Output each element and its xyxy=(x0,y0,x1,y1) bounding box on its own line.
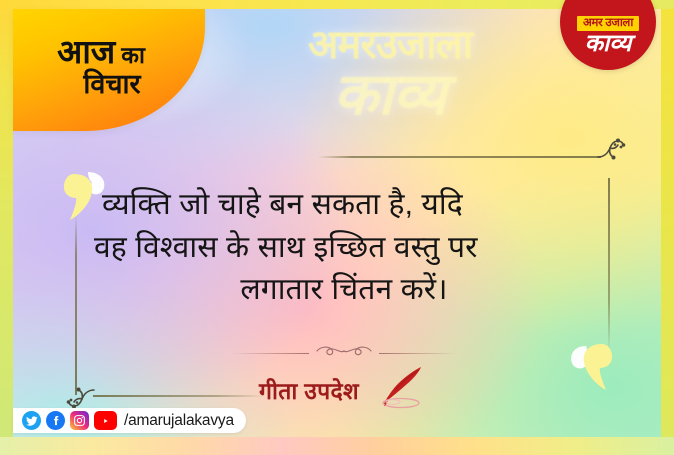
thought-of-the-day-badge: आजका विचार xyxy=(13,9,205,131)
ornament-divider-icon xyxy=(86,346,602,360)
social-handle-bar[interactable]: /amarujalakavya xyxy=(13,408,246,433)
quote-line-2: वह विश्वास के साथ इच्छित वस्तु पर xyxy=(86,227,602,270)
social-handle-text: /amarujalakavya xyxy=(124,412,234,430)
frame-left-line xyxy=(75,215,77,395)
quote-text: व्यक्ति जो चाहे बन सकता है, यदि वह विश्व… xyxy=(86,184,602,312)
logo-section-text: काव्य xyxy=(585,32,632,56)
feather-quill-icon xyxy=(377,364,429,415)
badge-word-aaj: आज xyxy=(57,33,115,70)
instagram-icon[interactable] xyxy=(70,411,89,430)
divider-ornament xyxy=(313,344,375,362)
attribution-block: गीता उपदेश xyxy=(86,346,602,415)
attribution-name: गीता उपदेश xyxy=(259,374,359,406)
border-right xyxy=(661,0,674,455)
quote-line-1: व्यक्ति जो चाहे बन सकता है, यदि xyxy=(86,184,602,227)
youtube-icon[interactable] xyxy=(94,411,117,430)
poster-canvas: अमरउजाला काव्य आजका विचार अमर उजाला काव्… xyxy=(0,0,674,455)
logo-brand-text: अमर उजाला xyxy=(577,16,639,31)
badge-word-ka: का xyxy=(121,42,145,68)
border-left xyxy=(0,0,13,455)
frame-top-line xyxy=(318,156,601,158)
frame-right-line xyxy=(608,178,610,353)
divider-line-right xyxy=(379,353,457,354)
divider-line-left xyxy=(231,353,309,354)
twitter-icon[interactable] xyxy=(22,411,41,430)
badge-line-2: विचार xyxy=(83,71,140,98)
quote-line-3: लगातार चिंतन करें। xyxy=(86,269,602,312)
facebook-icon[interactable] xyxy=(46,411,65,430)
badge-line-1: आजका xyxy=(57,35,145,68)
badge-inner: आजका विचार xyxy=(13,9,205,131)
floral-flourish-icon xyxy=(596,136,630,175)
border-bottom xyxy=(0,437,674,455)
